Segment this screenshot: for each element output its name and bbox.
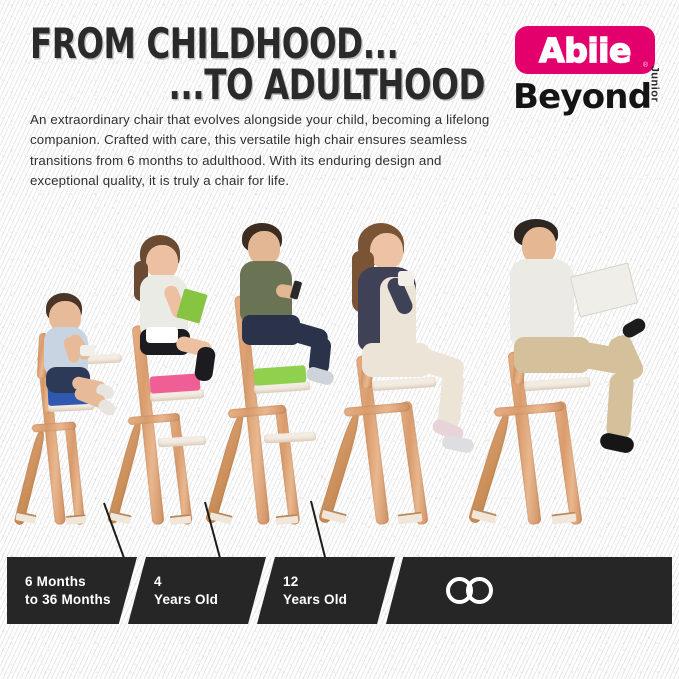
product-line-lockup: Beyond Junior <box>513 80 667 122</box>
abiie-wordmark: Abiie <box>539 34 631 67</box>
headline-line-1: FROM CHILDHOOD... <box>30 24 421 65</box>
headline: FROM CHILDHOOD... ...TO ADULTHOOD <box>30 24 485 105</box>
cup-prop <box>398 271 414 286</box>
timeline-segment-lifetime[interactable] <box>386 557 672 624</box>
timeline-label-4-years: 4 Years Old <box>128 573 218 609</box>
timeline-label-12-years: 12 Years Old <box>257 573 347 609</box>
timeline-segment-infant[interactable]: 6 Months to 36 Months <box>7 557 137 624</box>
timeline-segment-12-years[interactable]: 12 Years Old <box>257 557 395 624</box>
brand-logo: Abiie ® Beyond Junior <box>507 26 667 126</box>
person-adult-woman <box>340 215 490 465</box>
infinity-ring-right <box>466 577 493 604</box>
timeline-label-infant: 6 Months to 36 Months <box>7 573 111 609</box>
product-lifecycle-stage <box>0 205 679 525</box>
figure-adult-man <box>470 213 670 525</box>
timeline-segment-4-years[interactable]: 4 Years Old <box>128 557 266 624</box>
junior-wordmark: Junior <box>649 66 661 103</box>
abiie-badge: Abiie ® <box>515 26 655 74</box>
poster-canvas: FROM CHILDHOOD... ...TO ADULTHOOD An ext… <box>0 0 679 679</box>
age-timeline-bar: 6 Months to 36 Months 4 Years Old 12 Yea… <box>7 557 672 624</box>
headline-line-2: ...TO ADULTHOOD <box>94 65 485 106</box>
body-copy: An extraordinary chair that evolves alon… <box>30 110 500 192</box>
person-adult-man <box>490 213 679 469</box>
infinity-icon <box>446 577 493 604</box>
figure-adult-woman <box>322 215 482 525</box>
registered-mark-icon: ® <box>643 62 648 69</box>
beyond-wordmark: Beyond <box>513 77 651 117</box>
newspaper-prop <box>570 262 638 317</box>
